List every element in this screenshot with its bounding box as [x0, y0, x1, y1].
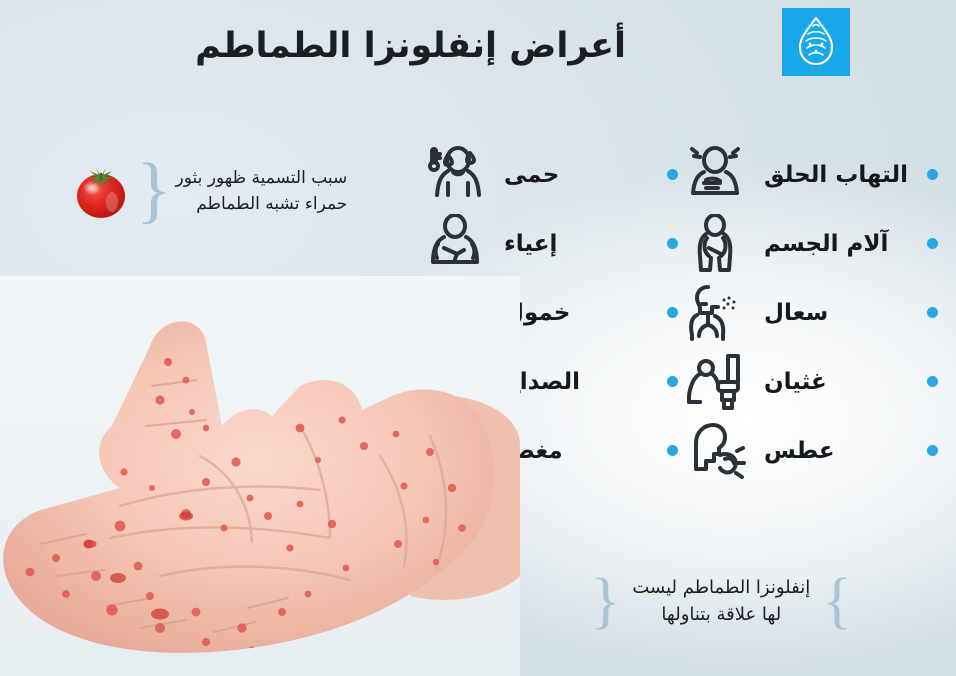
cramps-icon: [418, 418, 492, 484]
bullet-icon: [667, 169, 678, 180]
symptom-label: سعال: [758, 300, 919, 326]
bullet-icon: [927, 238, 938, 249]
tomato-naming-note: سبب التسمية ظهور بثور حمراء تشبه الطماطم…: [70, 160, 370, 222]
cough-icon: [678, 280, 752, 346]
header: أعراض إنفلونزا الطماطم: [0, 0, 956, 104]
body-aches-icon: [678, 211, 752, 277]
symptom-label: حمى: [498, 162, 659, 188]
symptom-headache: الصداع: [418, 347, 678, 416]
symptom-lethargy: خمول: [418, 278, 678, 347]
symptom-fever: حمى: [418, 140, 678, 209]
symptom-label: آلام الجسم: [758, 231, 919, 257]
page-title: أعراض إنفلونزا الطماطم: [195, 26, 626, 66]
sore-throat-icon: [678, 142, 752, 208]
lethargy-icon: [418, 280, 492, 346]
symptom-label: إعياء: [498, 231, 659, 257]
symptoms-grid: التهاب الحلق آلام الجسم: [418, 140, 938, 485]
symptom-fatigue: إعياء: [418, 209, 678, 278]
symptom-label: الصداع: [498, 369, 659, 395]
symptom-label: مغص: [498, 438, 659, 464]
bullet-icon: [927, 445, 938, 456]
brace-icon-right: }: [822, 577, 852, 625]
bottom-note-text: إنفلونزا الطماطم ليست لها علاقة بتناولها: [632, 574, 810, 628]
brace-icon: {: [136, 162, 172, 220]
symptom-sneeze: عطس: [678, 416, 938, 485]
symptom-label: عطس: [758, 438, 919, 464]
sneeze-icon: [678, 418, 752, 484]
bullet-icon: [667, 445, 678, 456]
symptom-cramps: مغص: [418, 416, 678, 485]
headache-icon: [418, 349, 492, 415]
symptom-label: خمول: [498, 300, 659, 326]
symptom-body-aches: آلام الجسم: [678, 209, 938, 278]
symptom-nausea: غثيان: [678, 347, 938, 416]
bottom-disclaimer-note: } إنفلونزا الطماطم ليست لها علاقة بتناول…: [591, 574, 852, 628]
bullet-icon: [667, 307, 678, 318]
symptom-label: التهاب الحلق: [758, 162, 919, 188]
symptom-cough: سعال: [678, 278, 938, 347]
fatigue-icon: [418, 211, 492, 277]
nausea-icon: [678, 349, 752, 415]
tomato-note-text: سبب التسمية ظهور بثور حمراء تشبه الطماطم: [176, 165, 348, 218]
tomato-photo: [70, 160, 132, 222]
bullet-icon: [667, 376, 678, 387]
symptom-column-left: حمى: [418, 140, 678, 485]
bullet-icon: [667, 238, 678, 249]
symptom-label: غثيان: [758, 369, 919, 395]
bullet-icon: [927, 376, 938, 387]
fever-icon: [418, 142, 492, 208]
bullet-icon: [927, 169, 938, 180]
brace-icon-left: {: [591, 577, 621, 625]
symptom-sore-throat: التهاب الحلق: [678, 140, 938, 209]
al-jazeera-logo: [782, 8, 850, 76]
bullet-icon: [927, 307, 938, 318]
infographic-poster: أعراض إنفلونزا الطماطم: [0, 0, 956, 676]
symptom-column-right: التهاب الحلق آلام الجسم: [678, 140, 938, 485]
